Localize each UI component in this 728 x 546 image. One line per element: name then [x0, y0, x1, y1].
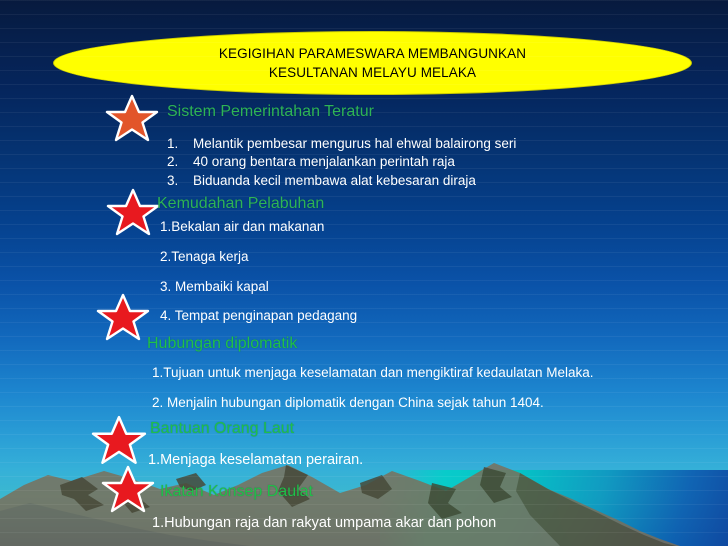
- list-item-number: 3.: [167, 173, 193, 188]
- list-item: 1.Menjaga keselamatan perairan.: [148, 452, 363, 468]
- list-item: 2.Tenaga kerja: [160, 249, 249, 264]
- list-item: 2. Menjalin hubungan diplomatik dengan C…: [152, 395, 544, 410]
- section-heading-5: Ikatan Konsep Daulat: [160, 483, 313, 501]
- list-item-text: Biduanda kecil membawa alat kebesaran di…: [193, 173, 476, 188]
- list-item: 1.Tujuan untuk menjaga keselamatan dan m…: [152, 365, 594, 380]
- list-item-number: 2.: [167, 154, 193, 169]
- list-item: 3.Biduanda kecil membawa alat kebesaran …: [167, 173, 476, 188]
- list-item: 1.Melantik pembesar mengurus hal ehwal b…: [167, 136, 516, 151]
- section-heading-2: Kemudahan Pelabuhan: [157, 195, 324, 213]
- page-title: KEGIGIHAN PARAMESWARA MEMBANGUNKAN KESUL…: [219, 44, 526, 82]
- title-ellipse: KEGIGIHAN PARAMESWARA MEMBANGUNKAN KESUL…: [53, 31, 692, 95]
- list-item: 4. Tempat penginapan pedagang: [160, 308, 357, 323]
- list-item-text: 40 orang bentara menjalankan perintah ra…: [193, 154, 455, 169]
- star-icon-4: [90, 414, 148, 468]
- star-icon-3: [95, 292, 151, 344]
- list-item-number: 1.: [167, 136, 193, 151]
- list-item: 1.Hubungan raja dan rakyat umpama akar d…: [152, 515, 496, 531]
- presentation-slide: KEGIGIHAN PARAMESWARA MEMBANGUNKAN KESUL…: [0, 0, 728, 546]
- section-heading-4: Bantuan Orang Laut: [150, 420, 294, 438]
- star-icon-2: [105, 187, 161, 239]
- star-icon-1: [104, 93, 160, 145]
- section-heading-3: Hubungan diplomatik: [147, 335, 297, 353]
- list-item: 2.40 orang bentara menjalankan perintah …: [167, 154, 455, 169]
- list-item-text: Melantik pembesar mengurus hal ehwal bal…: [193, 136, 516, 151]
- star-icon-5: [100, 464, 156, 516]
- section-heading-1: Sistem Pemerintahan Teratur: [167, 103, 374, 121]
- list-item: 3. Membaiki kapal: [160, 279, 269, 294]
- list-item: 1.Bekalan air dan makanan: [160, 219, 324, 234]
